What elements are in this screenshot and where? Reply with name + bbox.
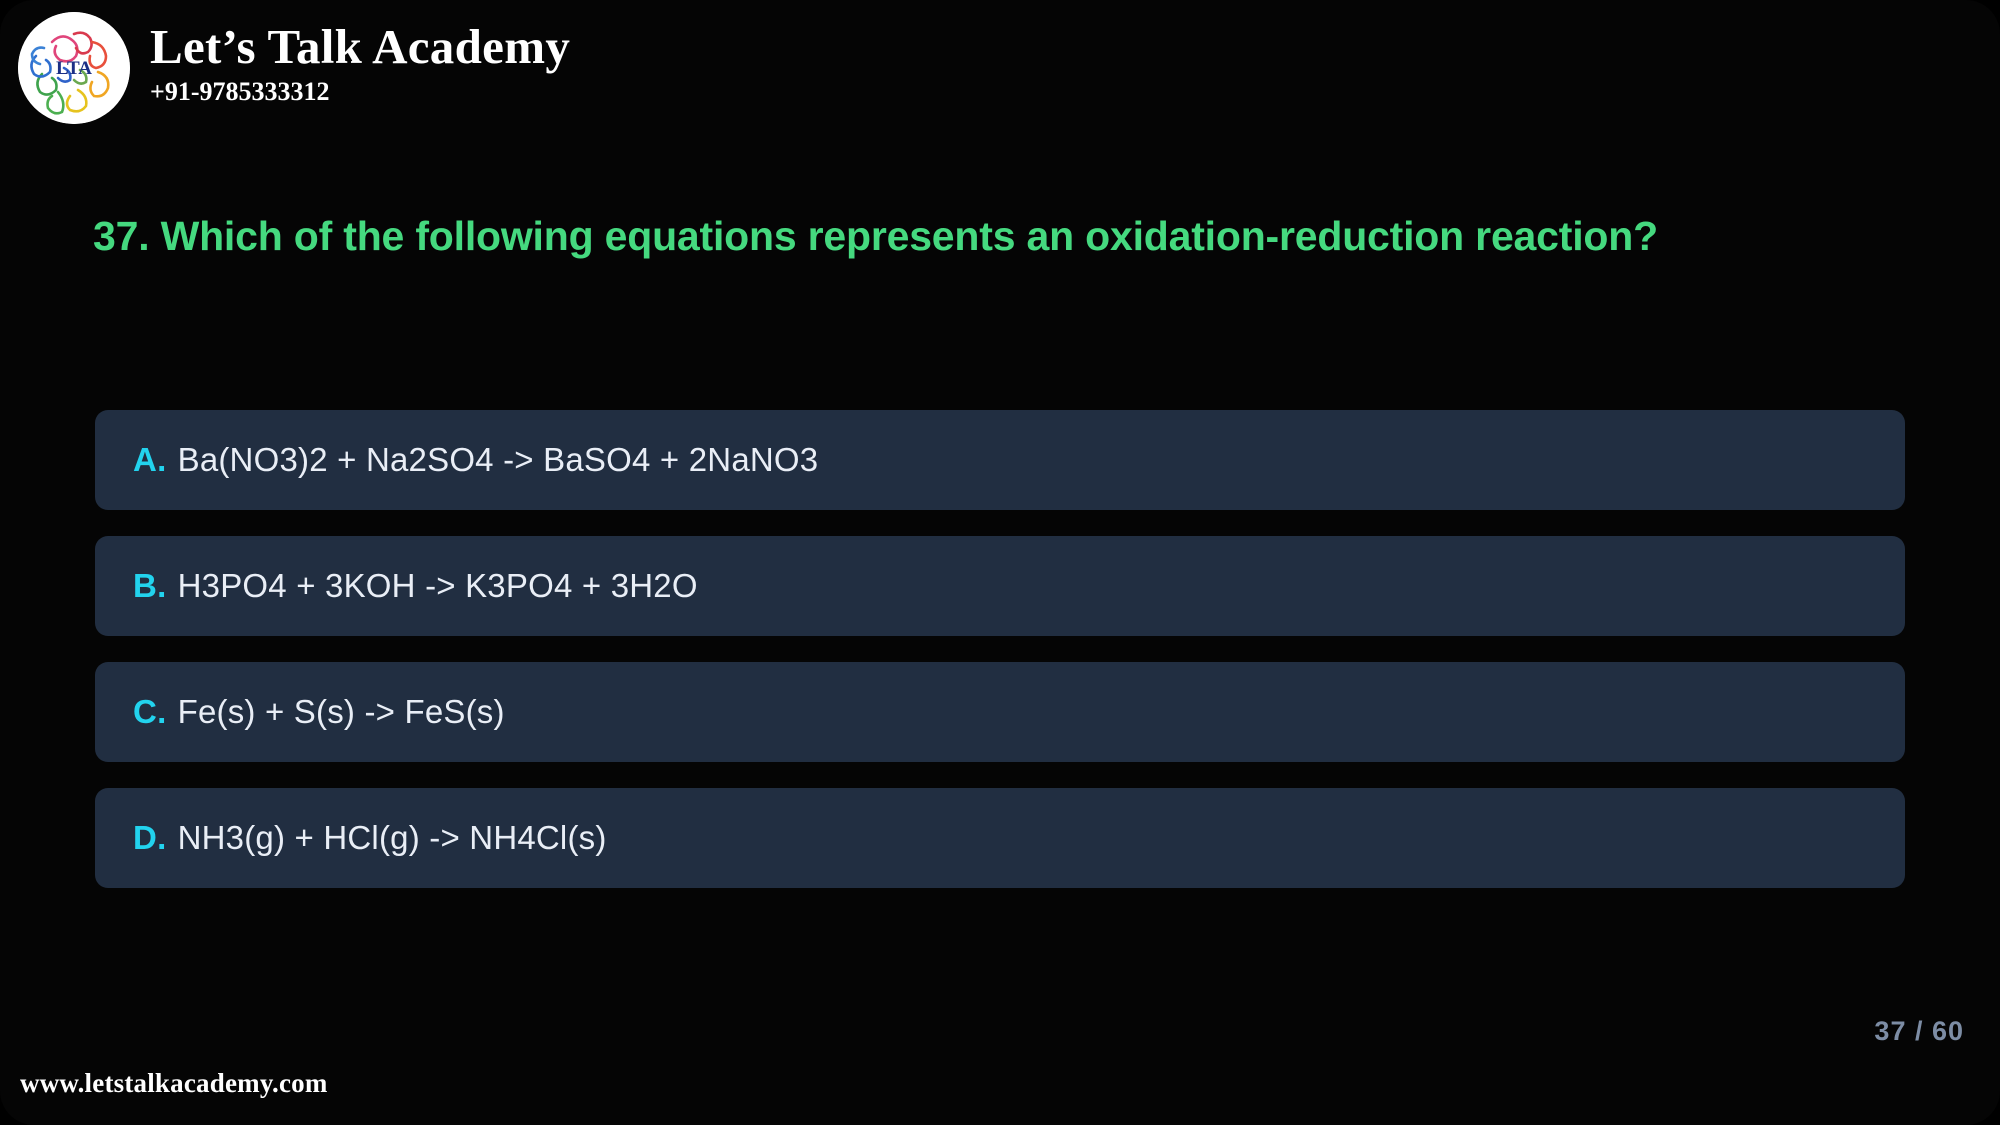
option-text-d: NH3(g) + HCl(g) -> NH4Cl(s)	[178, 819, 607, 857]
option-letter-c: C.	[133, 693, 167, 731]
brand-phone: +91-9785333312	[150, 76, 570, 109]
slide-header: LTA Let’s Talk Academy +91-9785333312	[18, 12, 570, 124]
option-card-a[interactable]: A. Ba(NO3)2 + Na2SO4 -> BaSO4 + 2NaNO3	[95, 410, 1905, 510]
option-card-c[interactable]: C. Fe(s) + S(s) -> FeS(s)	[95, 662, 1905, 762]
brand-text-block: Let’s Talk Academy +91-9785333312	[150, 22, 570, 114]
option-text-a: Ba(NO3)2 + Na2SO4 -> BaSO4 + 2NaNO3	[178, 441, 819, 479]
option-letter-d: D.	[133, 819, 167, 857]
option-card-d[interactable]: D. NH3(g) + HCl(g) -> NH4Cl(s)	[95, 788, 1905, 888]
option-text-c: Fe(s) + S(s) -> FeS(s)	[178, 693, 505, 731]
quiz-slide: LTA Let’s Talk Academy +91-9785333312 37…	[0, 0, 2000, 1125]
option-letter-b: B.	[133, 567, 167, 605]
question-text: 37. Which of the following equations rep…	[93, 212, 1940, 261]
options-list: A. Ba(NO3)2 + Na2SO4 -> BaSO4 + 2NaNO3 B…	[95, 410, 1905, 888]
option-text-b: H3PO4 + 3KOH -> K3PO4 + 3H2O	[178, 567, 698, 605]
svg-text:LTA: LTA	[56, 58, 92, 79]
option-card-b[interactable]: B. H3PO4 + 3KOH -> K3PO4 + 3H2O	[95, 536, 1905, 636]
brand-name: Let’s Talk Academy	[150, 22, 570, 73]
option-letter-a: A.	[133, 441, 167, 479]
lta-protein-ribbon-logo-icon: LTA	[18, 12, 130, 124]
footer-website-url: www.letstalkacademy.com	[20, 1068, 328, 1099]
page-counter: 37 / 60	[1874, 1016, 1964, 1047]
